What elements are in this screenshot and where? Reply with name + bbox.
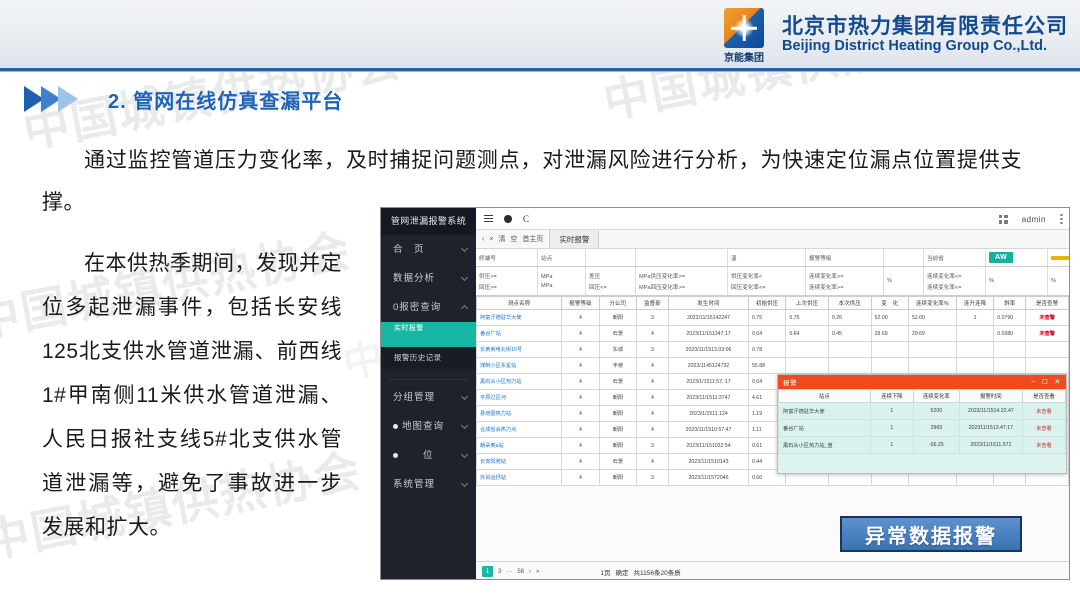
arrow-icon [58,86,78,112]
col-current-pressure[interactable]: 本次供压 [828,297,871,310]
filter-sublabel: MPa回压变化率>= [639,283,685,291]
cell-measure-point: 平原过区河 [477,390,562,406]
apcell-cont-down: 1 [870,420,913,437]
tab-scroll-left-icon[interactable]: ‹ [482,236,484,243]
cell-branch: 石景 [599,326,636,342]
cell-department: 3 [636,438,668,454]
cell-department: 4 [636,358,668,374]
app-topbar: C admin [476,208,1069,230]
cell-branch: 石景 [599,374,636,390]
cell-slope [994,342,1026,358]
title-arrow-bullet [24,84,100,114]
hamburger-icon[interactable] [484,215,493,222]
apcell-cont-rate: 2969 [913,420,959,437]
page-title: 2. 管网在线仿真查漏平台 [108,85,343,114]
filter-label-temp: 温 [728,249,806,266]
cell-rise-fall [956,358,993,374]
cell-occur-time: 2023/11/1510143 [668,454,748,470]
filter-field-change-rate-max[interactable]: 供压变化率< 回压变化率<= [728,267,806,295]
sidebar-item-label: 0报密查询 [393,302,441,313]
filter-sublabel: 差压 [589,272,600,280]
col-measure-point[interactable]: 测点名称 [477,297,562,310]
sidebar-item-label: 分组管理 [393,392,435,403]
cell-occur-time: 2023/1145124732 [668,358,748,374]
brand-name-cn: 北京市热力集团有限责任公司 [782,10,1068,40]
sidebar-item-label: 系统管理 [393,479,435,490]
cell-change: 29.69 [871,326,908,342]
bullet-dot-icon [393,424,398,429]
page-total-label: 共1156条20条质 [634,567,681,577]
cell-branch: 朝阳 [599,438,636,454]
cell-cont-change-rate [908,358,956,374]
apcell-cont-rate: 5200 [913,403,959,420]
tab-home-label[interactable]: 首主页 [522,234,543,244]
cell-measure-point: 合成省会热力点 [477,422,562,438]
apcol-cont-down[interactable]: 连续下降 [870,390,913,403]
col-alarm-level[interactable]: 报警等级 [562,297,599,310]
alarm-popup-head: 站点 连续下降 连续变化率 报警时间 是否查看 [779,390,1066,403]
sidebar-spacer [381,369,476,376]
cell-occur-time: 2023/11/15142247 [668,310,748,326]
cell-alarm-level: 4 [562,406,599,422]
col-occur-time[interactable]: 发生时间 [668,297,748,310]
cell-occur-time: 2023/11/151032:54 [668,438,748,454]
cell-alarm-level: 4 [562,470,599,486]
cell-measure-point: 阿富汗德驻华大使 [477,310,562,326]
app-sidebar: 管网泄漏报警系统 合 页 数据分析 0报密查询 实时报警 报警历史记录 分组管理… [381,208,476,580]
page-ellipsis: ··· [506,569,512,575]
cell-current-pressure [828,342,871,358]
filter-form-row2: 供压>= 回压>= MPa MPa 差压 回压<= MPa供压变化率>= MPa… [476,267,1069,296]
apcell-viewed: 未查看 [1022,403,1065,420]
cell-cont-change-rate: 52.00 [908,310,956,326]
apcell-site: 阿富汗德驻华大使 [779,403,871,420]
pagination-bar: 1 3 ··· 58 › » 1页 确定 共1156条20条质 [476,561,1069,580]
tab-realtime-alarm[interactable]: 实时报警 [550,230,599,248]
cell-branch: 朝阳 [599,422,636,438]
cell-last-pressure: 0.64 [786,326,829,342]
cell-branch: 丰使 [599,358,636,374]
filter-label-site: 站点 [538,249,586,266]
app-tab-bar: ‹ × 清 空 首主页 实时报警 [476,230,1069,249]
cell-slope: 0.0380 [994,326,1026,342]
apcol-viewed[interactable]: 是否查看 [1022,390,1065,403]
cell-occur-time: 2023/11/1513.03:06 [668,342,748,358]
alarm-popup-title: 报警 [783,377,797,387]
cell-last-pressure [786,342,829,358]
chevron-down-icon [461,451,468,458]
apcol-site[interactable]: 站点 [779,390,871,403]
col-checked[interactable]: 是否查警 [1026,297,1069,310]
sidebar-item-home[interactable]: 合 页 [381,235,476,264]
cell-alarm-level: 4 [562,374,599,390]
tab-empty-label[interactable]: 空 [510,234,517,244]
filter-label-alarm-level: 报警等级 [806,249,884,266]
col-branch[interactable]: 分公司 [599,297,636,310]
sidebar-subitem-realtime-alarm[interactable]: 实时报警 [381,322,476,336]
filter-cell-blank-b [636,249,728,266]
filter-field-diff-pressure[interactable]: 差压 回压<= [586,267,636,295]
page-number-label: 1页 [600,567,610,577]
logo-caption: 京能集团 [716,49,772,64]
amber-button[interactable] [1051,256,1070,260]
table-row[interactable]: 番谷厂站 4 石景 4 2023/11/151347:17 0.64 0.64 … [477,326,1069,342]
filter-unit-percent-c: % [1048,267,1070,295]
bullet-dot-icon [393,453,398,458]
maximize-icon[interactable]: ☐ [1042,378,1049,386]
filter-field-change-rate-min[interactable]: MPa供压变化率>= MPa回压变化率>= [636,267,728,295]
filter-field-cont-rate-max[interactable]: 连续变化率<= 连续变化率<= [924,267,986,295]
apcell-alarm-time: 202311/1513.47:17 [959,420,1022,437]
table-row[interactable]: 煤制小区东星站 4 丰使 4 2023/1145124732 55.88 [477,358,1069,374]
filter-cell-blank-c [884,249,924,266]
sidebar-divider [389,379,468,380]
cell-branch: 朝阳 [599,390,636,406]
paragraph-detail: 在本供热季期间，发现并定位多起泄漏事件，包括长安线125北支供水管道泄漏、前西线… [42,242,342,550]
slide-header: 京能集团 北京市热力集团有限责任公司 Beijing District Heat… [0,0,1080,68]
chevron-down-icon [461,480,468,487]
sidebar-item-position[interactable]: 位 [381,441,476,470]
cell-current-pressure [828,358,871,374]
cell-department: 4 [636,406,668,422]
apcell-viewed: 未查看 [1022,420,1065,437]
callout-abnormal-data-alarm: 异常数据报警 [840,516,1022,552]
col-slope[interactable]: 斜率 [994,297,1026,310]
cell-occur-time: 2023/11/1510:57:47 [668,422,748,438]
sidebar-item-group-management[interactable]: 分组管理 [381,383,476,412]
cell-occur-time: 2023/1/1511:57.:17 [668,374,748,390]
cell-cont-change-rate [908,342,956,358]
cell-measure-point: 东黄英电北街16号 [477,342,562,358]
cell-measure-point: 朝朵奥a站 [477,438,562,454]
filter-sublabel: % [887,278,892,284]
filter-btn-amber-cell [1048,249,1070,266]
cell-change [871,358,908,374]
filter-unit-mpa: MPa MPa [538,267,586,295]
cell-checked-status: 未查警 [1026,326,1069,342]
cell-occur-time: 2023/11/1511:3747 [668,390,748,406]
filter-sublabel: 连续变化率>= [809,283,844,291]
cell-alarm-level: 4 [562,326,599,342]
tab-close-icon[interactable]: × [489,236,493,243]
filter-sublabel: MPa [541,274,553,280]
table-head: 测点名称 报警等级 分公司 监督部 发生时间 初始供压 上次供压 本次供压 变 … [477,297,1069,310]
sidebar-item-label: 位 [402,450,434,461]
apcell-alarm-time: 2023/11/1511.571 [959,437,1022,454]
page-link[interactable]: 3 [498,569,501,575]
page-current[interactable]: 1 [482,566,493,577]
cell-department: 4 [636,326,668,342]
apcell-viewed: 未查看 [1022,437,1065,454]
cell-rise-fall: 1 [956,310,993,326]
alarm-popup-body: 阿富汗德驻华大使 1 5200 2023/11/1514.22.47 未查看 番… [779,403,1066,454]
cell-occur-time: 2023/1/1511.124 [668,406,748,422]
apcol-cont-rate[interactable]: 连续变化率 [913,390,959,403]
cell-initial-pressure: 0.78 [748,342,785,358]
filter-sublabel: 连续变化率<= [927,272,962,280]
cell-current-pressure: 0.26 [828,310,871,326]
tab-clear-label[interactable]: 清 [498,234,505,244]
cell-change: 52.00 [871,310,908,326]
app-topbar-right: admin [999,208,1063,230]
sidebar-active-bar [381,336,476,347]
cell-cont-change-rate: 29.69 [908,326,956,342]
filter-btn-aw-cell: AW [986,249,1048,266]
table-row[interactable]: 东黄英电北街16号 4 东城 3 2023/11/1513.03:06 0.78 [477,342,1069,358]
filter-form-row1: 终端号 站点 温 报警等级 当前省 AW [476,249,1069,267]
filter-unit-percent-b: % [986,267,1048,295]
logo-star-icon [731,15,757,41]
sidebar-item-map-query[interactable]: 地图查询 [381,412,476,441]
sidebar-item-system-management[interactable]: 系统管理 [381,470,476,499]
cell-change [871,342,908,358]
sidebar-item-label: 数据分析 [393,273,435,284]
page-confirm-button[interactable]: 确定 [616,567,629,577]
filter-sublabel: 供压>= [479,272,497,280]
apcell-site: 黑石头小区热力站_值 [779,437,871,454]
apcell-alarm-time: 2023/11/1514.22.47 [959,403,1022,420]
more-vertical-icon[interactable] [1060,214,1063,225]
chevron-down-icon [461,422,468,429]
cell-department: 3 [636,310,668,326]
cell-department: 4 [636,422,668,438]
cell-measure-point: 煤制小区东星站 [477,358,562,374]
company-logo: 京能集团 [716,8,772,64]
cell-measure-point: 县增圈热力站 [477,406,562,422]
cell-rise-fall [956,326,993,342]
filter-unit-percent-a: % [884,267,924,295]
cell-alarm-level: 4 [562,438,599,454]
cell-measure-point: 番谷厂站 [477,326,562,342]
cell-branch: 东城 [599,342,636,358]
logo-mark-icon [724,8,764,48]
cell-measure-point: 外贸运抒站 [477,470,562,486]
filter-sublabel: 回压变化率<= [731,283,766,291]
minimize-icon[interactable]: − [1031,379,1036,386]
filter-sublabel: % [989,278,994,284]
cell-department: 3 [636,342,668,358]
cell-measure-point: 黑石头小区热力站 [477,374,562,390]
cell-branch: 石景 [599,454,636,470]
cell-occur-time: 2023/11/1572046 [668,470,748,486]
brand-name-en: Beijing District Heating Group Co.,Ltd. [782,38,1047,54]
apcol-alarm-time[interactable]: 报警时间 [959,390,1022,403]
cell-slope: 0.0790 [994,310,1026,326]
cell-measure-point: 长安阳苑站 [477,454,562,470]
alarm-popup-window-controls: − ☐ ✕ [1031,378,1061,386]
alarm-popup-row[interactable]: 番谷厂站 1 2969 202311/1513.47:17 未查看 [779,420,1066,437]
cell-checked-status: 未查警 [1026,310,1069,326]
cell-department: 4 [636,390,668,406]
filter-sublabel: 回压>= [479,283,497,291]
cell-alarm-level: 4 [562,358,599,374]
apcell-site: 番谷厂站 [779,420,871,437]
cell-occur-time: 2023/11/151347:17 [668,326,748,342]
aw-button[interactable]: AW [989,252,1013,263]
filter-label-terminal: 终端号 [476,249,538,266]
cell-department: 4 [636,454,668,470]
sidebar-item-data-analysis[interactable]: 数据分析 [381,264,476,293]
page-next-icon[interactable]: › [529,569,531,575]
chevron-up-icon [461,305,468,312]
filter-sublabel: MPa [541,283,553,289]
cell-department: 3 [636,470,668,486]
filter-cell-blank-a [586,249,636,266]
close-icon[interactable]: ✕ [1055,378,1061,386]
cell-initial-pressure: 0.75 [748,310,785,326]
tab-nav-controls[interactable]: ‹ × 清 空 首主页 [476,230,550,248]
cell-department: 4 [636,374,668,390]
chevron-down-icon [461,274,468,281]
col-department[interactable]: 监督部 [636,297,668,310]
cell-branch: 朝阳 [599,406,636,422]
cell-last-pressure: 0.75 [786,310,829,326]
alarm-popup-row[interactable]: 黑石头小区热力站_值 1 -56.25 2023/11/1511.571 未查看 [779,437,1066,454]
circle-icon[interactable] [504,215,512,223]
filter-sublabel: 连续变化率<= [927,283,962,291]
cell-initial-pressure: 0.64 [748,326,785,342]
cell-checked-status [1026,342,1069,358]
sidebar-item-label: 地图查询 [402,421,444,432]
cell-checked-status [1026,358,1069,374]
alarm-popup[interactable]: 报警 − ☐ ✕ 站点 连续下降 连续变化率 报警时间 是否查看 阿富汗德驻华大… [777,374,1067,474]
filter-field-cont-rate-min[interactable]: 连续变化率>= 连续变化率>= [806,267,884,295]
page-link-last[interactable]: 58 [517,569,524,575]
cell-slope [994,358,1026,374]
cell-initial-pressure: 55.88 [748,358,785,374]
chevron-down-icon [461,245,468,252]
cell-branch: 朝阳 [599,470,636,486]
cell-alarm-level: 4 [562,310,599,326]
user-name-label[interactable]: admin [1022,215,1046,224]
apcell-cont-down: 1 [870,437,913,454]
apcell-cont-rate: -56.25 [913,437,959,454]
alarm-popup-titlebar: 报警 − ☐ ✕ [778,375,1066,389]
page-last-icon[interactable]: » [536,569,539,575]
cell-alarm-level: 4 [562,422,599,438]
cell-alarm-level: 4 [562,342,599,358]
col-last-pressure[interactable]: 上次供压 [786,297,829,310]
filter-label-current-province: 当前省 [924,249,986,266]
sidebar-subitem-alarm-history[interactable]: 报警历史记录 [381,347,476,369]
filter-field-supply-pressure-min[interactable]: 供压>= 回压>= [476,267,538,295]
cell-alarm-level: 4 [562,454,599,470]
filter-sublabel: 连续变化率>= [809,272,844,280]
table-row[interactable]: 阿富汗德驻华大使 4 朝阳 3 2023/11/15142247 0.75 0.… [477,310,1069,326]
cell-alarm-level: 4 [562,390,599,406]
grid-icon[interactable] [999,215,1008,224]
table-header-row: 测点名称 报警等级 分公司 监督部 发生时间 初始供压 上次供压 本次供压 变 … [477,297,1069,310]
filter-sublabel: 回压<= [589,283,607,291]
cell-current-pressure: 0.45 [828,326,871,342]
col-initial-pressure[interactable]: 初始供压 [748,297,785,310]
col-change[interactable]: 变 化 [871,297,908,310]
header-divider-light [0,71,1080,72]
apcell-cont-down: 1 [870,403,913,420]
cell-branch: 朝阳 [599,310,636,326]
cell-last-pressure [786,358,829,374]
chevron-down-icon [461,393,468,400]
app-sidebar-title: 管网泄漏报警系统 [381,208,476,235]
alarm-popup-row[interactable]: 阿富汗德驻华大使 1 5200 2023/11/1514.22.47 未查看 [779,403,1066,420]
refresh-c-icon[interactable]: C [523,214,529,224]
cell-rise-fall [956,342,993,358]
filter-sublabel: MPa供压变化率>= [639,272,685,280]
filter-sublabel: % [1051,278,1056,284]
sidebar-item-alarm-query[interactable]: 0报密查询 [381,293,476,322]
sidebar-item-label: 合 页 [393,244,425,255]
filter-sublabel: 供压变化率< [731,272,762,280]
col-cont-change-rate[interactable]: 连续变化率% [908,297,956,310]
alarm-popup-table: 站点 连续下降 连续变化率 报警时间 是否查看 阿富汗德驻华大使 1 5200 … [778,389,1066,454]
alarm-popup-header-row: 站点 连续下降 连续变化率 报警时间 是否查看 [779,390,1066,403]
col-rise-fall[interactable]: 连升连降 [956,297,993,310]
